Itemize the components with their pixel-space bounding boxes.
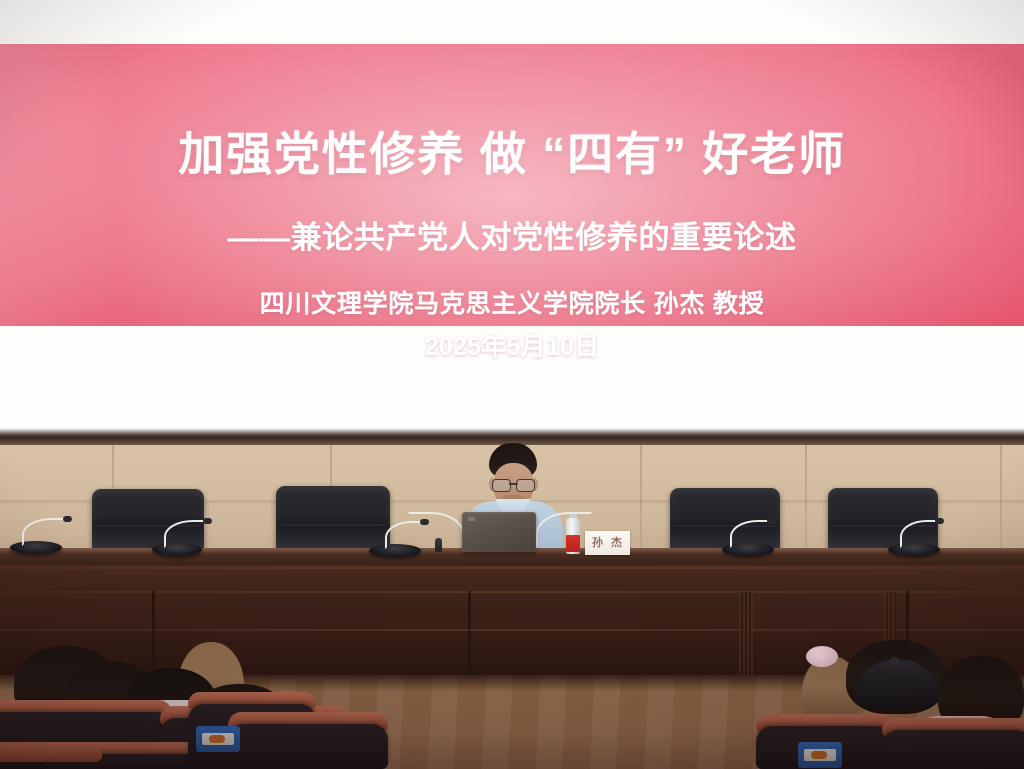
microphone-arm-2: [164, 520, 212, 548]
wall-seam: [805, 445, 807, 558]
microphone-arm-5: [900, 520, 944, 548]
slide-date: 2025年5月10日: [0, 327, 1024, 363]
hair-scrunchie: [806, 646, 838, 667]
slide-subtitle: ——兼论共产党人对党性修养的重要论述: [0, 212, 1024, 257]
laptop-logo: [468, 517, 475, 521]
table-seam: [152, 591, 155, 675]
microphone-arm-1: [22, 518, 72, 546]
wall-seam: [640, 445, 642, 558]
microphone-head-4: [767, 518, 776, 524]
lecture-hall-photograph: 加强党性修养 做 “四有” 好老师 ——兼论共产党人对党性修养的重要论述 四川文…: [0, 0, 1024, 769]
open-laptop: [462, 512, 536, 552]
slide-title: 加强党性修养 做 “四有” 好老师: [0, 118, 1024, 184]
table-seam: [468, 591, 471, 675]
cap-button: [890, 657, 899, 665]
screen-bottom-edge: [0, 428, 1024, 438]
table-panel-line: [0, 567, 1024, 569]
auditorium-seat: [228, 724, 388, 769]
seat-badge-emblem: [811, 751, 827, 759]
desk-name-card: 孙 杰: [585, 531, 630, 555]
seat-badge-emblem: [209, 735, 225, 743]
bottle-label: [566, 535, 580, 552]
name-card-glyph-2: 杰: [611, 537, 622, 549]
desk-small-object: [435, 538, 442, 552]
auditorium-seat: [882, 730, 1024, 769]
projection-screen: 加强党性修养 做 “四有” 好老师 ——兼论共产党人对党性修养的重要论述 四川文…: [0, 0, 1024, 438]
glasses-icon: [491, 479, 536, 491]
slide-presenter-line: 四川文理学院马克思主义学院院长 孙杰 教授: [0, 284, 1024, 320]
auditorium-seat-rim: [0, 742, 102, 762]
microphone-head-1: [63, 516, 72, 522]
slide-banner: 加强党性修养 做 “四有” 好老师 ——兼论共产党人对党性修养的重要论述 四川文…: [0, 44, 1024, 326]
microphone-head-2: [203, 518, 212, 524]
seat-badge: [798, 742, 842, 768]
glasses-lens-left: [492, 479, 511, 492]
microphone-arm-4: [730, 520, 776, 548]
microphone-head-5: [935, 518, 944, 524]
glasses-lens-right: [516, 479, 535, 492]
podium-chair-2: [276, 486, 390, 551]
seat-badge: [196, 726, 240, 752]
wall-seam: [1000, 445, 1002, 558]
name-card-glyph-1: 孙: [592, 537, 603, 549]
table-fluted-column: [739, 592, 753, 675]
